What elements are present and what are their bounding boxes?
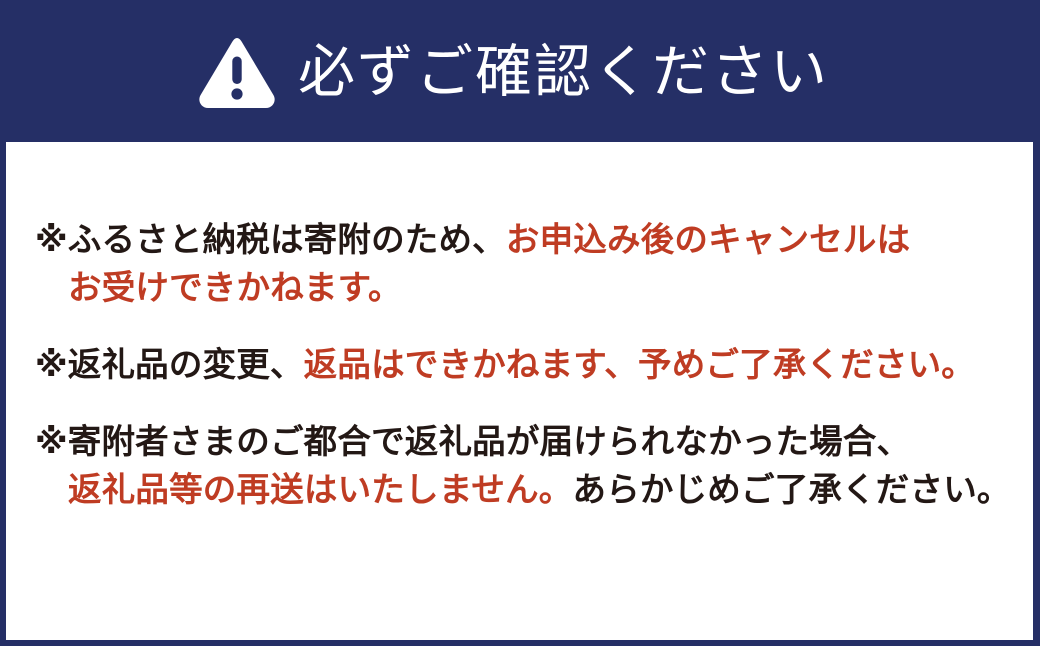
emphasis-text: お受けできかねます。 [68,268,402,307]
redelivery-notice: ※寄附者さまのご都合で返礼品が届けられなかった場合、返礼品等の再送はいたしません… [35,418,1025,514]
notice-header-banner: 必ずご確認ください [0,0,1040,142]
body-text: ※ふるさと納税は寄附のため、 [35,220,506,259]
notice-line: お受けできかねます。 [35,264,1025,312]
notice-line: 返礼品等の再送はいたしません。あらかじめご了承ください。 [35,466,1025,514]
notice-line: ※寄附者さまのご都合で返礼品が届けられなかった場合、 [35,418,1025,466]
body-text: ※寄附者さまのご都合で返礼品が届けられなかった場合、 [35,422,910,461]
exchange-return-notice: ※返礼品の変更、返品はできかねます、予めご了承ください。 [35,341,1025,389]
notice-list: ※ふるさと納税は寄附のため、お申込み後のキャンセルはお受けできかねます。※返礼品… [35,142,1025,514]
emphasis-text: 返礼品等の再送はいたしません。 [68,470,573,509]
body-text: ※返礼品の変更、 [35,345,304,384]
cancellation-notice: ※ふるさと納税は寄附のため、お申込み後のキャンセルはお受けできかねます。 [35,216,1025,312]
notice-line: ※返礼品の変更、返品はできかねます、予めご了承ください。 [35,341,1025,389]
emphasis-text: お申込み後のキャンセルは [506,220,910,259]
emphasis-text: 返品はできかねます、予めご了承ください。 [304,345,975,384]
notice-card: 必ずご確認ください ※ふるさと納税は寄附のため、お申込み後のキャンセルはお受けで… [0,0,1040,646]
warning-triangle-icon [198,38,276,108]
body-text: あらかじめご了承ください。 [573,470,1011,509]
notice-line: ※ふるさと納税は寄附のため、お申込み後のキャンセルは [35,216,1025,264]
page-title: 必ずご確認ください [298,44,829,101]
